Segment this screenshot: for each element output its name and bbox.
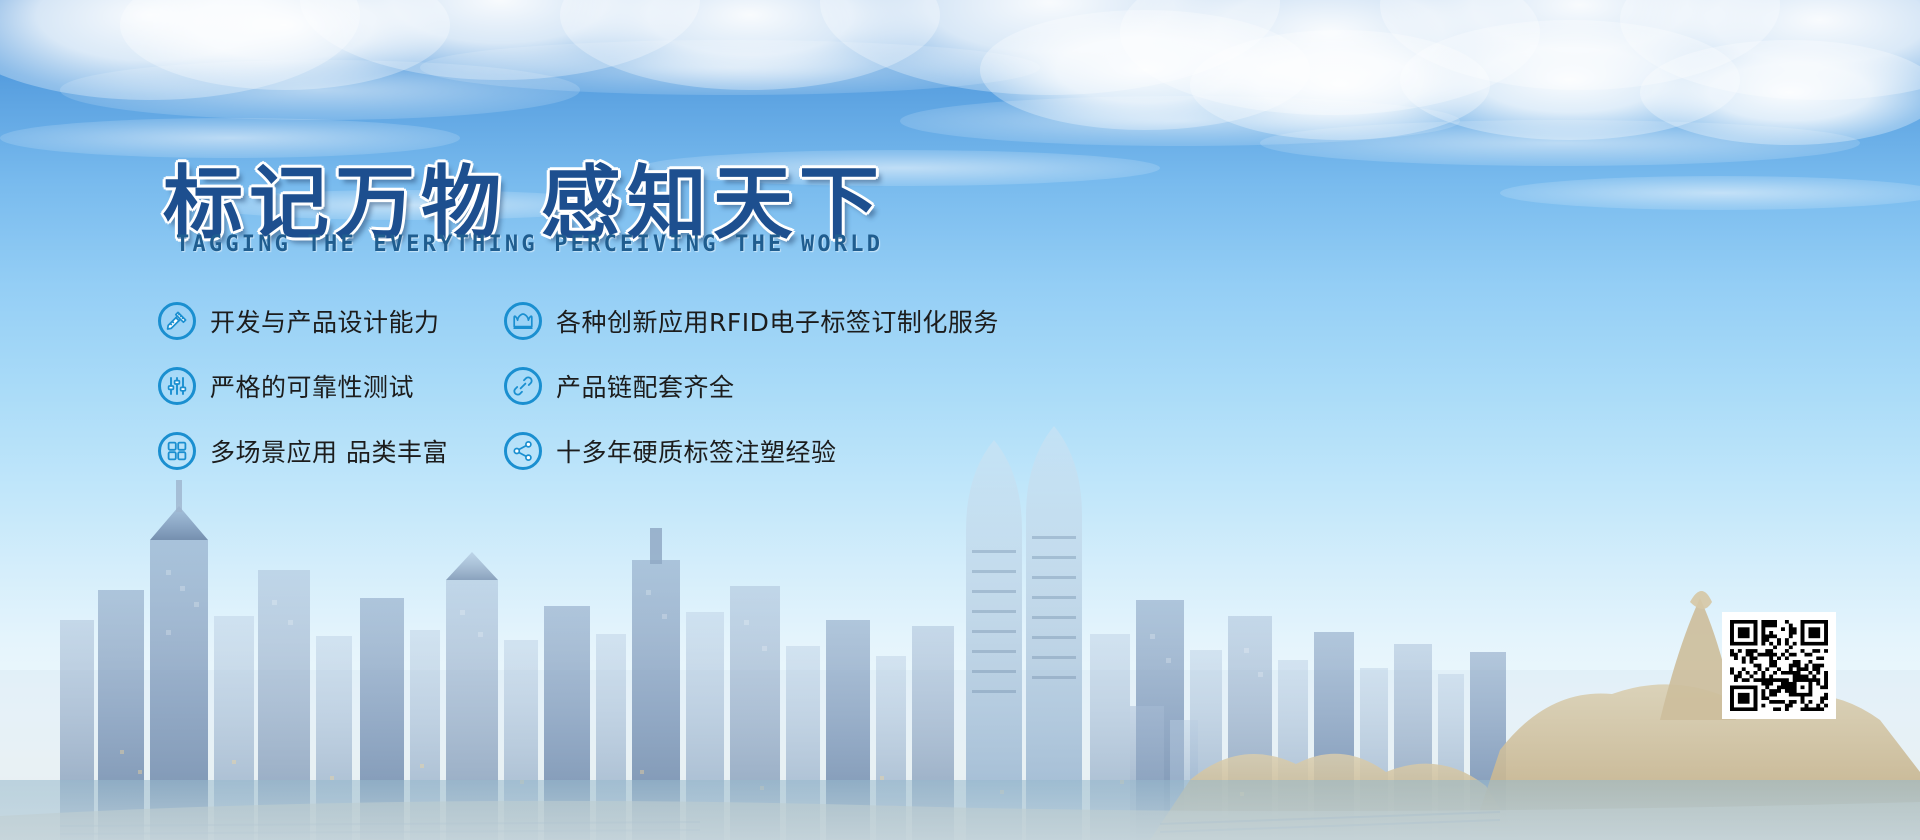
feature-label: 严格的可靠性测试	[210, 368, 414, 404]
feature-row: 多场景应用 品类丰富	[158, 418, 1058, 483]
feature-item-product-chain[interactable]: 产品链配套齐全	[504, 353, 1024, 418]
cloud-wisp	[1500, 176, 1920, 210]
cloud-shape	[300, 0, 700, 80]
ruler-pencil-icon	[158, 302, 196, 340]
feature-item-design-capability[interactable]: 开发与产品设计能力	[158, 288, 504, 353]
cloud-wisp	[420, 40, 1040, 95]
link-chain-icon	[504, 367, 542, 405]
feature-row: 开发与产品设计能力 各种创新应用RFID电子标签订制化服务	[158, 288, 1058, 353]
cloud-shape	[1640, 40, 1920, 145]
cloud-shape	[1400, 20, 1740, 140]
feature-label: 多场景应用 品类丰富	[210, 433, 448, 469]
sliders-icon	[158, 367, 196, 405]
cloud-shape	[820, 0, 1280, 95]
cloud-shape	[0, 0, 360, 100]
hero-banner: 标记万物 感知天下 TAGGING THE EVERYTHING PERCEIV…	[0, 0, 1920, 840]
page-subtitle: TAGGING THE EVERYTHING PERCEIVING THE WO…	[176, 232, 883, 257]
cloud-shape	[560, 0, 940, 90]
grid-squares-icon	[158, 432, 196, 470]
feature-label: 各种创新应用RFID电子标签订制化服务	[556, 303, 999, 339]
feature-item-rfid-customization[interactable]: 各种创新应用RFID电子标签订制化服务	[504, 288, 1024, 353]
feature-label: 产品链配套齐全	[556, 368, 735, 404]
cloud-shape	[1620, 0, 1920, 100]
city-skyline-illustration	[0, 420, 1920, 840]
share-network-icon	[504, 432, 542, 470]
cloud-shape	[1380, 0, 1780, 90]
qr-code-canvas	[1730, 620, 1828, 711]
feature-item-molding-experience[interactable]: 十多年硬质标签注塑经验	[504, 418, 1024, 483]
feature-item-multi-scenario[interactable]: 多场景应用 品类丰富	[158, 418, 504, 483]
waterfront-strip	[0, 780, 1920, 840]
cloud-wisp	[900, 96, 1460, 146]
feature-label: 十多年硬质标签注塑经验	[556, 433, 837, 469]
cloud-wisp	[60, 60, 580, 120]
feature-list: 开发与产品设计能力 各种创新应用RFID电子标签订制化服务	[158, 288, 1058, 483]
cloud-shape	[120, 0, 450, 90]
cloud-shape	[980, 10, 1310, 130]
feature-item-reliability-testing[interactable]: 严格的可靠性测试	[158, 353, 504, 418]
qr-code[interactable]	[1722, 612, 1836, 719]
cloud-shape	[1190, 30, 1490, 140]
feature-label: 开发与产品设计能力	[210, 303, 440, 339]
crown-icon	[504, 302, 542, 340]
feature-row: 严格的可靠性测试 产品链配套齐全	[158, 353, 1058, 418]
cloud-wisp	[1260, 120, 1860, 166]
cloud-shape	[1120, 0, 1540, 115]
